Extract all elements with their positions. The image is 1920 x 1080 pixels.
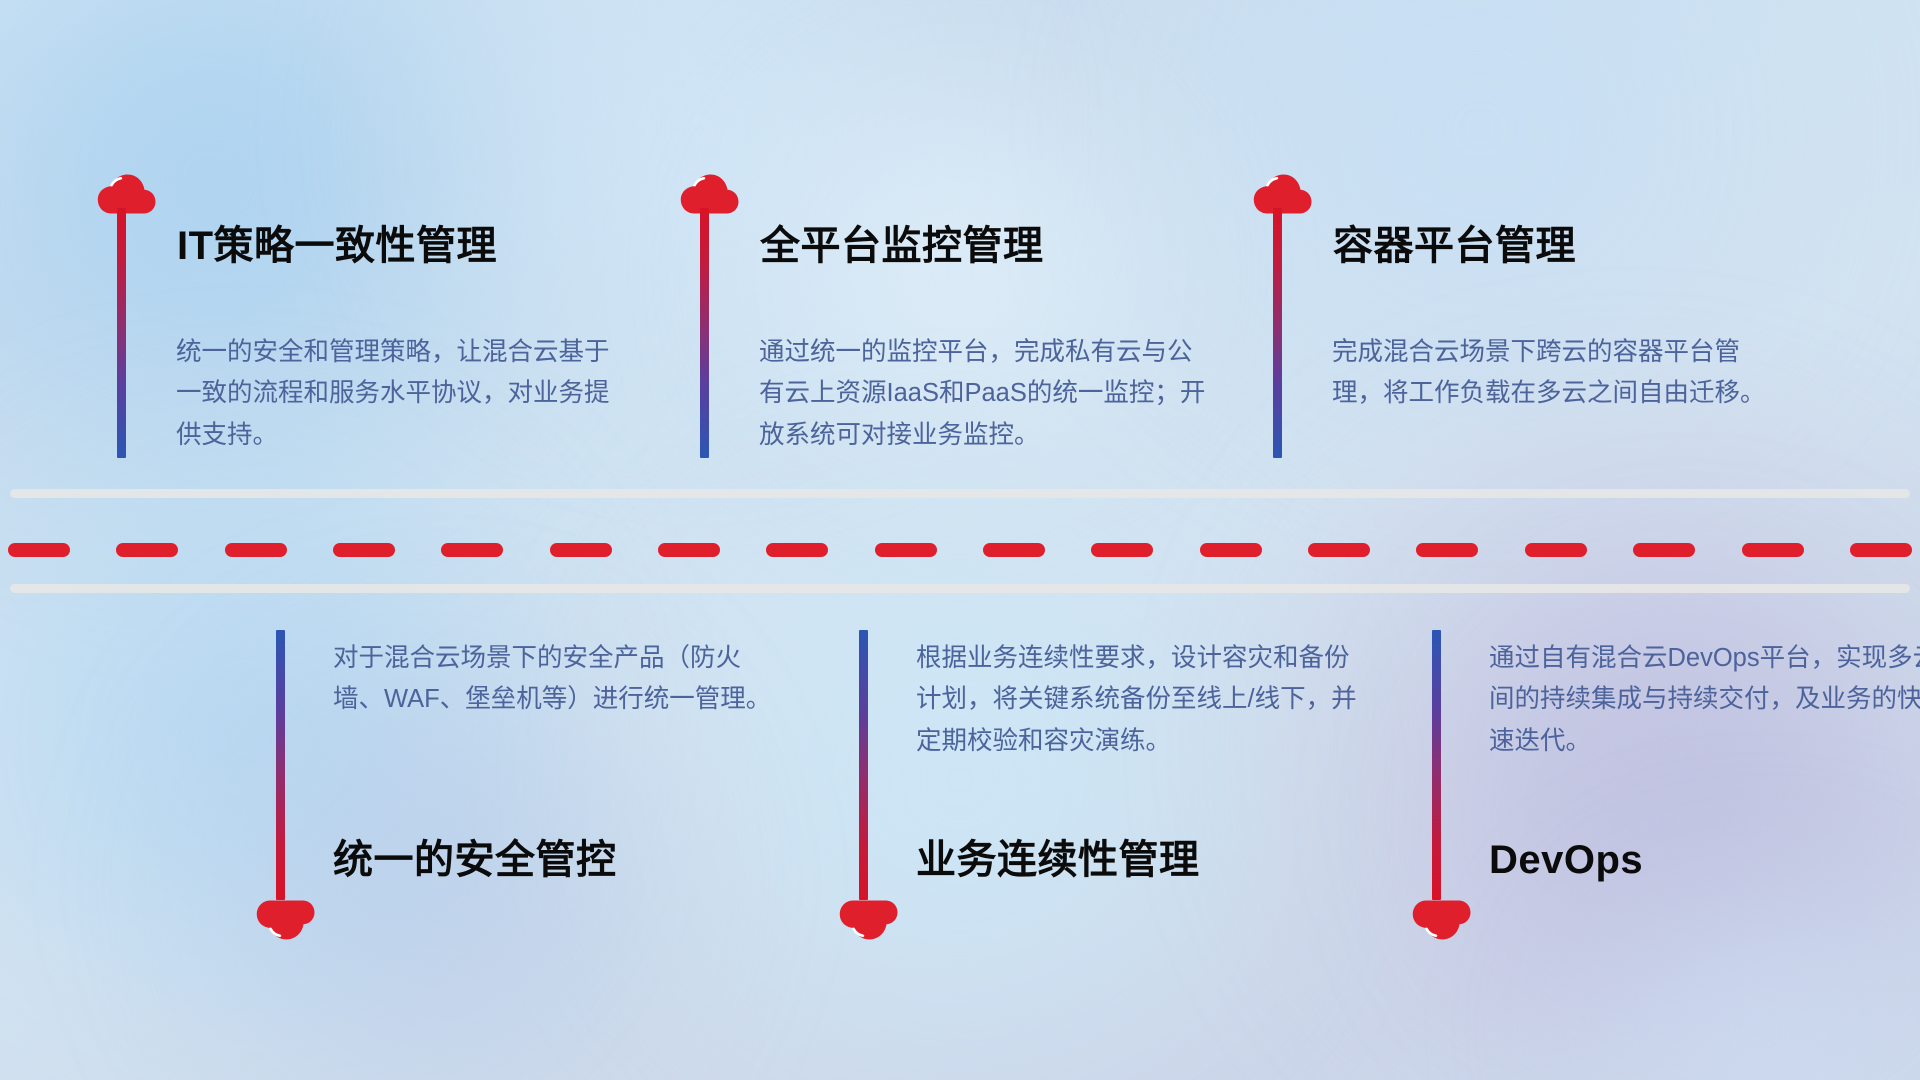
feature-body: 通过自有混合云DevOps平台，实现多云间的持续集成与持续交付，及业务的快速迭代… [1489, 638, 1920, 762]
dash-segment [333, 543, 395, 557]
feature-body: 统一的安全和管理策略，让混合云基于一致的流程和服务水平协议，对业务提供支持。 [176, 332, 631, 456]
feature-heading: IT策略一致性管理 [177, 224, 497, 268]
dash-segment [875, 543, 937, 557]
feature-body: 根据业务连续性要求，设计容灾和备份计划，将关键系统备份至线上/线下，并定期校验和… [916, 638, 1371, 762]
dash-segment [658, 543, 720, 557]
cloud-icon [838, 900, 900, 948]
dash-segment [1742, 543, 1804, 557]
connector-stem [700, 208, 709, 458]
dash-segment [1416, 543, 1478, 557]
connector-stem [1273, 208, 1282, 458]
divider-line-top [10, 489, 1910, 498]
dash-segment [1525, 543, 1587, 557]
infographic-canvas: IT策略一致性管理 统一的安全和管理策略，让混合云基于一致的流程和服务水平协议，… [0, 0, 1920, 1080]
divider-line-dashed [8, 543, 1912, 557]
dash-segment [1308, 543, 1370, 557]
feature-heading: 全平台监控管理 [760, 224, 1044, 268]
feature-body: 通过统一的监控平台，完成私有云与公有云上资源IaaS和PaaS的统一监控；开放系… [759, 332, 1214, 456]
dash-segment [1850, 543, 1912, 557]
connector-stem [1432, 630, 1441, 900]
feature-body: 对于混合云场景下的安全产品（防火墙、WAF、堡垒机等）进行统一管理。 [333, 638, 788, 721]
dash-segment [225, 543, 287, 557]
dash-segment [766, 543, 828, 557]
cloud-icon [1252, 166, 1314, 214]
connector-stem [276, 630, 285, 900]
cloud-icon [255, 900, 317, 948]
cloud-icon [679, 166, 741, 214]
connector-stem [859, 630, 868, 900]
dash-segment [441, 543, 503, 557]
dash-segment [1200, 543, 1262, 557]
feature-heading: DevOps [1489, 838, 1643, 882]
feature-body: 完成混合云场景下跨云的容器平台管理，将工作负载在多云之间自由迁移。 [1332, 332, 1787, 415]
connector-stem [117, 208, 126, 458]
dash-segment [8, 543, 70, 557]
dash-segment [1091, 543, 1153, 557]
dash-segment [550, 543, 612, 557]
cloud-icon [96, 166, 158, 214]
feature-heading: 统一的安全管控 [333, 838, 617, 882]
divider-line-bottom [10, 584, 1910, 593]
dash-segment [1633, 543, 1695, 557]
dash-segment [116, 543, 178, 557]
cloud-icon [1411, 900, 1473, 948]
feature-heading: 容器平台管理 [1333, 224, 1576, 268]
feature-heading: 业务连续性管理 [916, 838, 1200, 882]
dash-segment [983, 543, 1045, 557]
